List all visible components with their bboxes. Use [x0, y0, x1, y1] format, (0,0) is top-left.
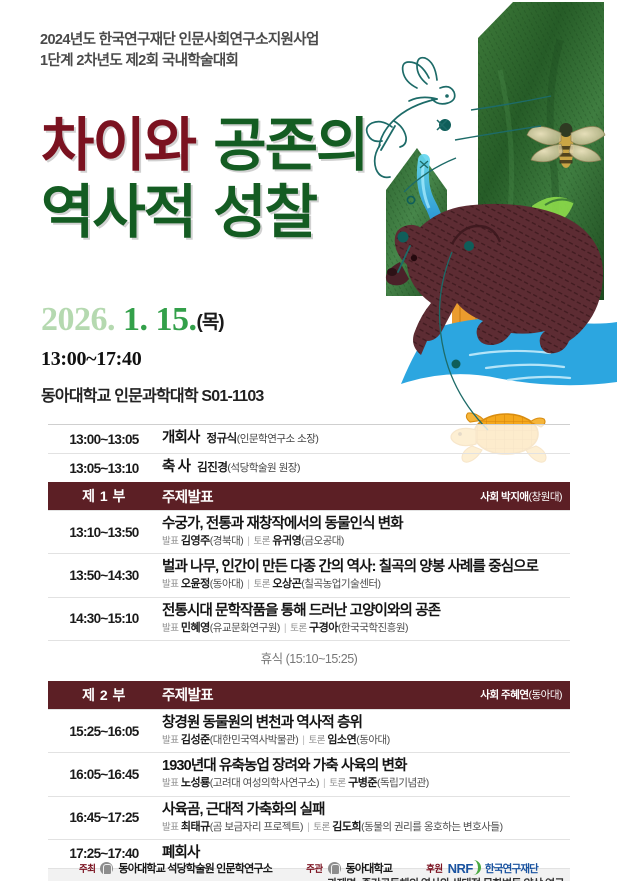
presenter-name: 김성준	[181, 734, 210, 746]
row-content: 축 사 김진경(석당학술원 원장)	[160, 454, 570, 482]
water-shape	[401, 318, 617, 386]
date-weekday: (목)	[197, 312, 224, 333]
row-title-wrap: 축 사 김진경(석당학술원 원장)	[162, 458, 566, 476]
bee-figure	[527, 123, 605, 168]
person-name: 김진경	[197, 462, 227, 474]
table-row: 13:10~13:50 수궁가, 전통과 재창작에서의 동물인식 변화 발표 김…	[48, 510, 570, 553]
sponsor-label: 후원	[426, 861, 442, 875]
title-line-2: 역사적 성찰	[41, 179, 367, 246]
part-label: 제 2 부	[48, 685, 160, 705]
title-particle-wa: 와	[144, 111, 195, 179]
discussant-affiliation: (독립기념관)	[377, 777, 429, 789]
session-people: 발표 김성준(대한민국역사박물관)|토론 임소연(동아대)	[162, 734, 566, 747]
title-word-coexistence: 공존의	[195, 111, 367, 179]
host-organization: 주최 동아대학교 석당학술원 인문학연구소	[79, 860, 272, 876]
nrf-logo-icon: NRF	[448, 861, 480, 876]
row-title-wrap: 개회사 정규식(인문학연구소 소장)	[162, 429, 566, 447]
decorative-marks	[381, 96, 551, 430]
row-person: 정규식(인문학연구소 소장)	[206, 432, 318, 446]
sponsor-name: 한국연구재단	[485, 861, 538, 876]
poster-canvas: 2024년도 한국연구재단 인문사회연구소지원사업 1단계 2차년도 제2회 국…	[0, 0, 617, 881]
session-title: 벌과 나무, 인간이 만든 다종 간의 역사: 칠곡의 양봉 사례를 중심으로	[162, 558, 566, 576]
row-label: 개회사	[162, 429, 199, 447]
discussant-name: 구경아	[309, 622, 338, 634]
row-content: 창경원 동물원의 변천과 역사적 층위 발표 김성준(대한민국역사박물관)|토론…	[160, 710, 570, 752]
event-time: 13:00~17:40	[41, 348, 141, 371]
discussant-name: 유귀영	[272, 535, 301, 547]
chair-affiliation: (창원대)	[529, 491, 562, 503]
event-date: 2026. 1. 15.(목)	[41, 303, 224, 337]
row-content: 전통시대 문학작품을 통해 드러난 고양이와의 공존 발표 민혜영(유교문화연구…	[160, 598, 570, 640]
discussant-label: 토론	[329, 778, 345, 789]
organizer-label: 주관	[306, 861, 322, 875]
part-chair: 사회 주혜연(동아대)	[480, 687, 570, 702]
discussant-affiliation: (한국국학진흥원)	[338, 622, 408, 634]
sponsor-organization: 후원 NRF 한국연구재단	[426, 861, 538, 876]
program-line-1: 2024년도 한국연구재단 인문사회연구소지원사업	[40, 30, 319, 51]
row-content: 1930년대 유축농업 장려와 가축 사육의 변화 발표 노성룡(고려대 여성의…	[160, 753, 570, 795]
organizer-organization: 주관 동아대학교	[306, 860, 392, 876]
part-title: 주제발표	[160, 486, 480, 507]
title-word-difference: 차이	[41, 111, 144, 179]
chair-label: 사회	[480, 491, 501, 503]
nrf-swoosh-icon	[468, 860, 481, 875]
title-line-1: 차이와 공존의	[41, 112, 367, 179]
discussant-affiliation: (동물의 권리를 옹호하는 변호사들)	[361, 821, 502, 833]
row-content: 사육곰, 근대적 가축화의 실패 발표 최태규(곰 보금자리 프로젝트)|토론 …	[160, 797, 570, 839]
footer-organizations: 주최 동아대학교 석당학술원 인문학연구소 주관 동아대학교 후원 NRF 한국…	[0, 855, 617, 881]
presenter-affiliation: (유교문화연구원)	[210, 622, 280, 634]
presenter-affiliation: (고려대 여성의학사연구소)	[210, 777, 319, 789]
row-label: 축 사	[162, 458, 190, 476]
session-title: 전통시대 문학작품을 통해 드러난 고양이와의 공존	[162, 602, 566, 620]
row-time: 16:05~16:45	[48, 753, 160, 795]
break-row: 휴식 (15:10~15:25)	[48, 640, 570, 675]
part-header-1: 제 1 부 주제발표 사회 박지애(창원대)	[48, 482, 570, 510]
discussant-affiliation: (동아대)	[356, 734, 389, 746]
host-label: 주최	[79, 861, 95, 875]
row-time: 14:30~15:10	[48, 598, 160, 640]
presenter-label: 발표	[162, 536, 178, 547]
part-header-2: 제 2 부 주제발표 사회 주혜연(동아대)	[48, 681, 570, 709]
small-tree-shape	[386, 148, 447, 296]
discussant-label: 토론	[308, 735, 324, 746]
presenter-name: 김영주	[181, 535, 210, 547]
table-row: 16:45~17:25 사육곰, 근대적 가축화의 실패 발표 최태규(곰 보금…	[48, 796, 570, 839]
presenter-affiliation: (곰 보금자리 프로젝트)	[210, 821, 303, 833]
presenter-name: 노성룡	[181, 777, 210, 789]
presenter-name: 최태규	[181, 821, 210, 833]
divider: |	[323, 777, 325, 789]
date-monthday: 1. 15.	[115, 301, 197, 338]
rabbit-line-art	[367, 58, 455, 178]
discussant-name: 김도희	[332, 821, 361, 833]
session-title: 수궁가, 전통과 재창작에서의 동물인식 변화	[162, 515, 566, 533]
date-year: 2026.	[41, 301, 115, 338]
chair-affiliation: (동아대)	[529, 689, 562, 701]
row-content: 수궁가, 전통과 재창작에서의 동물인식 변화 발표 김영주(경북대)|토론 유…	[160, 511, 570, 553]
discussant-affiliation: (금오공대)	[301, 535, 344, 547]
presenter-label: 발표	[162, 623, 178, 634]
divider: |	[302, 734, 304, 746]
presenter-name: 민혜영	[181, 622, 210, 634]
table-row: 14:30~15:10 전통시대 문학작품을 통해 드러난 고양이와의 공존 발…	[48, 597, 570, 640]
discussant-name: 구병준	[348, 777, 377, 789]
discussant-label: 토론	[254, 536, 270, 547]
organizer-name: 동아대학교	[346, 860, 393, 876]
presenter-label: 발표	[162, 735, 178, 746]
person-affiliation: (인문학연구소 소장)	[237, 433, 319, 445]
page-title: 차이와 공존의 역사적 성찰	[41, 112, 367, 247]
session-title: 사육곰, 근대적 가축화의 실패	[162, 801, 566, 819]
person-affiliation: (석당학술원 원장)	[227, 462, 300, 474]
discussant-label: 토론	[254, 579, 270, 590]
row-time: 13:10~13:50	[48, 511, 160, 553]
schedule-table: 13:00~13:05 개회사 정규식(인문학연구소 소장) 13:05~13:…	[48, 424, 570, 881]
session-people: 발표 노성룡(고려대 여성의학사연구소)|토론 구병준(독립기념관)	[162, 777, 566, 790]
row-content: 개회사 정규식(인문학연구소 소장)	[160, 425, 570, 453]
divider: |	[247, 578, 249, 590]
table-row: 16:05~16:45 1930년대 유축농업 장려와 가축 사육의 변화 발표…	[48, 752, 570, 795]
row-time: 13:50~14:30	[48, 554, 160, 596]
host-name: 동아대학교 석당학술원 인문학연구소	[118, 860, 272, 876]
bear-figure	[386, 204, 603, 355]
program-header: 2024년도 한국연구재단 인문사회연구소지원사업 1단계 2차년도 제2회 국…	[40, 30, 319, 72]
part-title: 주제발표	[160, 684, 480, 705]
row-person: 김진경(석당학술원 원장)	[197, 461, 300, 475]
presenter-label: 발표	[162, 778, 178, 789]
table-row: 13:05~13:10 축 사 김진경(석당학술원 원장)	[48, 453, 570, 482]
university-seal-icon	[328, 862, 341, 875]
session-title: 창경원 동물원의 변천과 역사적 층위	[162, 714, 566, 732]
part-label: 제 1 부	[48, 486, 160, 506]
session-people: 발표 최태규(곰 보금자리 프로젝트)|토론 김도희(동물의 권리를 옹호하는 …	[162, 821, 566, 834]
event-venue: 동아대학교 인문과학대학 S01-1103	[41, 382, 264, 406]
row-content: 벌과 나무, 인간이 만든 다종 간의 역사: 칠곡의 양봉 사례를 중심으로 …	[160, 554, 570, 596]
session-title: 1930년대 유축농업 장려와 가축 사육의 변화	[162, 757, 566, 775]
row-time: 15:25~16:05	[48, 710, 160, 752]
presenter-affiliation: (경북대)	[210, 535, 243, 547]
row-time: 16:45~17:25	[48, 797, 160, 839]
divider: |	[247, 535, 249, 547]
presenter-label: 발표	[162, 822, 178, 833]
discussant-affiliation: (칠곡농업기술센터)	[301, 578, 380, 590]
session-people: 발표 민혜영(유교문화연구원)|토론 구경아(한국국학진흥원)	[162, 622, 566, 635]
program-line-2: 1단계 2차년도 제2회 국내학술대회	[40, 51, 319, 72]
presenter-affiliation: (대한민국역사박물관)	[210, 734, 298, 746]
discussant-label: 토론	[313, 822, 329, 833]
row-time: 13:00~13:05	[48, 425, 160, 453]
tall-tree-shape	[478, 2, 604, 300]
divider: |	[284, 622, 286, 634]
session-people: 발표 김영주(경북대)|토론 유귀영(금오공대)	[162, 535, 566, 548]
discussant-name: 오상곤	[272, 578, 301, 590]
table-row: 13:50~14:30 벌과 나무, 인간이 만든 다종 간의 역사: 칠곡의 …	[48, 553, 570, 596]
chair-name: 주혜연	[501, 689, 528, 701]
presenter-label: 발표	[162, 579, 178, 590]
university-seal-icon	[100, 862, 113, 875]
table-row: 13:00~13:05 개회사 정규식(인문학연구소 소장)	[48, 424, 570, 453]
discussant-name: 임소연	[327, 734, 356, 746]
part-chair: 사회 박지애(창원대)	[480, 489, 570, 504]
chair-name: 박지애	[501, 491, 528, 503]
tree-trunk-shape	[452, 274, 520, 352]
discussant-label: 토론	[290, 623, 306, 634]
person-name: 정규식	[206, 433, 236, 445]
table-row: 15:25~16:05 창경원 동물원의 변천과 역사적 층위 발표 김성준(대…	[48, 709, 570, 752]
session-people: 발표 오윤정(동아대)|토론 오상곤(칠곡농업기술센터)	[162, 578, 566, 591]
presenter-affiliation: (동아대)	[210, 578, 243, 590]
divider: |	[307, 821, 309, 833]
row-time: 13:05~13:10	[48, 454, 160, 482]
chair-label: 사회	[480, 689, 501, 701]
presenter-name: 오윤정	[181, 578, 210, 590]
